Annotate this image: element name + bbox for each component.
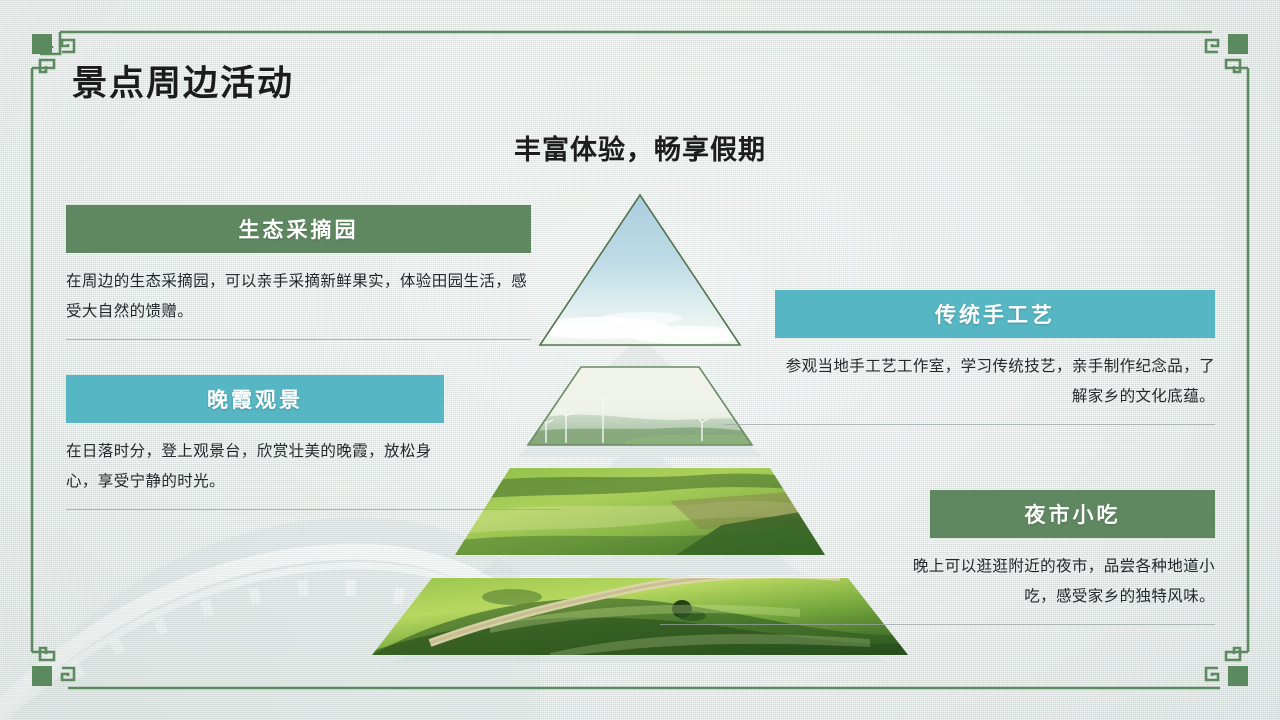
- pyramid-layer-2: [520, 363, 760, 449]
- banner-night-market-snacks[interactable]: 夜市小吃: [930, 490, 1215, 538]
- pyramid-layer-1: [530, 185, 750, 355]
- corner-ornament-top-right: [1206, 34, 1248, 72]
- pyramid-layer-3: [450, 463, 830, 559]
- banner-title: 夜市小吃: [1025, 499, 1121, 529]
- corner-ornament-bottom-left: [32, 648, 74, 686]
- corner-ornament-top-left: [32, 32, 74, 72]
- info-block-night-market-snacks[interactable]: 夜市小吃 晚上可以逛逛附近的夜市，品尝各种地道小吃，感受家乡的独特风味。: [930, 490, 1215, 625]
- block-divider: [660, 624, 1215, 625]
- info-block-sunset-viewing[interactable]: 晚霞观景 在日落时分，登上观景台，欣赏壮美的晚霞，放松身心，享受宁静的时光。: [66, 375, 444, 510]
- block-description: 在日落时分，登上观景台，欣赏壮美的晚霞，放松身心，享受宁静的时光。: [66, 437, 444, 497]
- block-divider: [66, 509, 561, 510]
- block-divider: [725, 424, 1215, 425]
- banner-eco-picking-garden[interactable]: 生态采摘园: [66, 205, 531, 253]
- banner-title: 晚霞观景: [207, 384, 303, 414]
- info-block-traditional-handicraft[interactable]: 传统手工艺 参观当地手工艺工作室，学习传统技艺，亲手制作纪念品，了解家乡的文化底…: [775, 290, 1215, 425]
- block-description: 参观当地手工艺工作室，学习传统技艺，亲手制作纪念品，了解家乡的文化底蕴。: [775, 352, 1215, 412]
- banner-sunset-viewing[interactable]: 晚霞观景: [66, 375, 444, 423]
- block-description: 晚上可以逛逛附近的夜市，品尝各种地道小吃，感受家乡的独特风味。: [885, 552, 1215, 612]
- banner-traditional-handicraft[interactable]: 传统手工艺: [775, 290, 1215, 338]
- block-description: 在周边的生态采摘园，可以亲手采摘新鲜果实，体验田园生活，感受大自然的馈赠。: [66, 267, 531, 327]
- info-block-eco-picking-garden[interactable]: 生态采摘园 在周边的生态采摘园，可以亲手采摘新鲜果实，体验田园生活，感受大自然的…: [66, 205, 531, 340]
- banner-title: 传统手工艺: [935, 299, 1055, 329]
- page-title: 景点周边活动: [72, 55, 294, 106]
- corner-ornament-bottom-right: [1206, 648, 1248, 686]
- block-divider: [66, 339, 531, 340]
- banner-title: 生态采摘园: [239, 214, 359, 244]
- pyramid-layer-4: [370, 573, 910, 659]
- page-subtitle: 丰富体验，畅享假期: [0, 128, 1280, 167]
